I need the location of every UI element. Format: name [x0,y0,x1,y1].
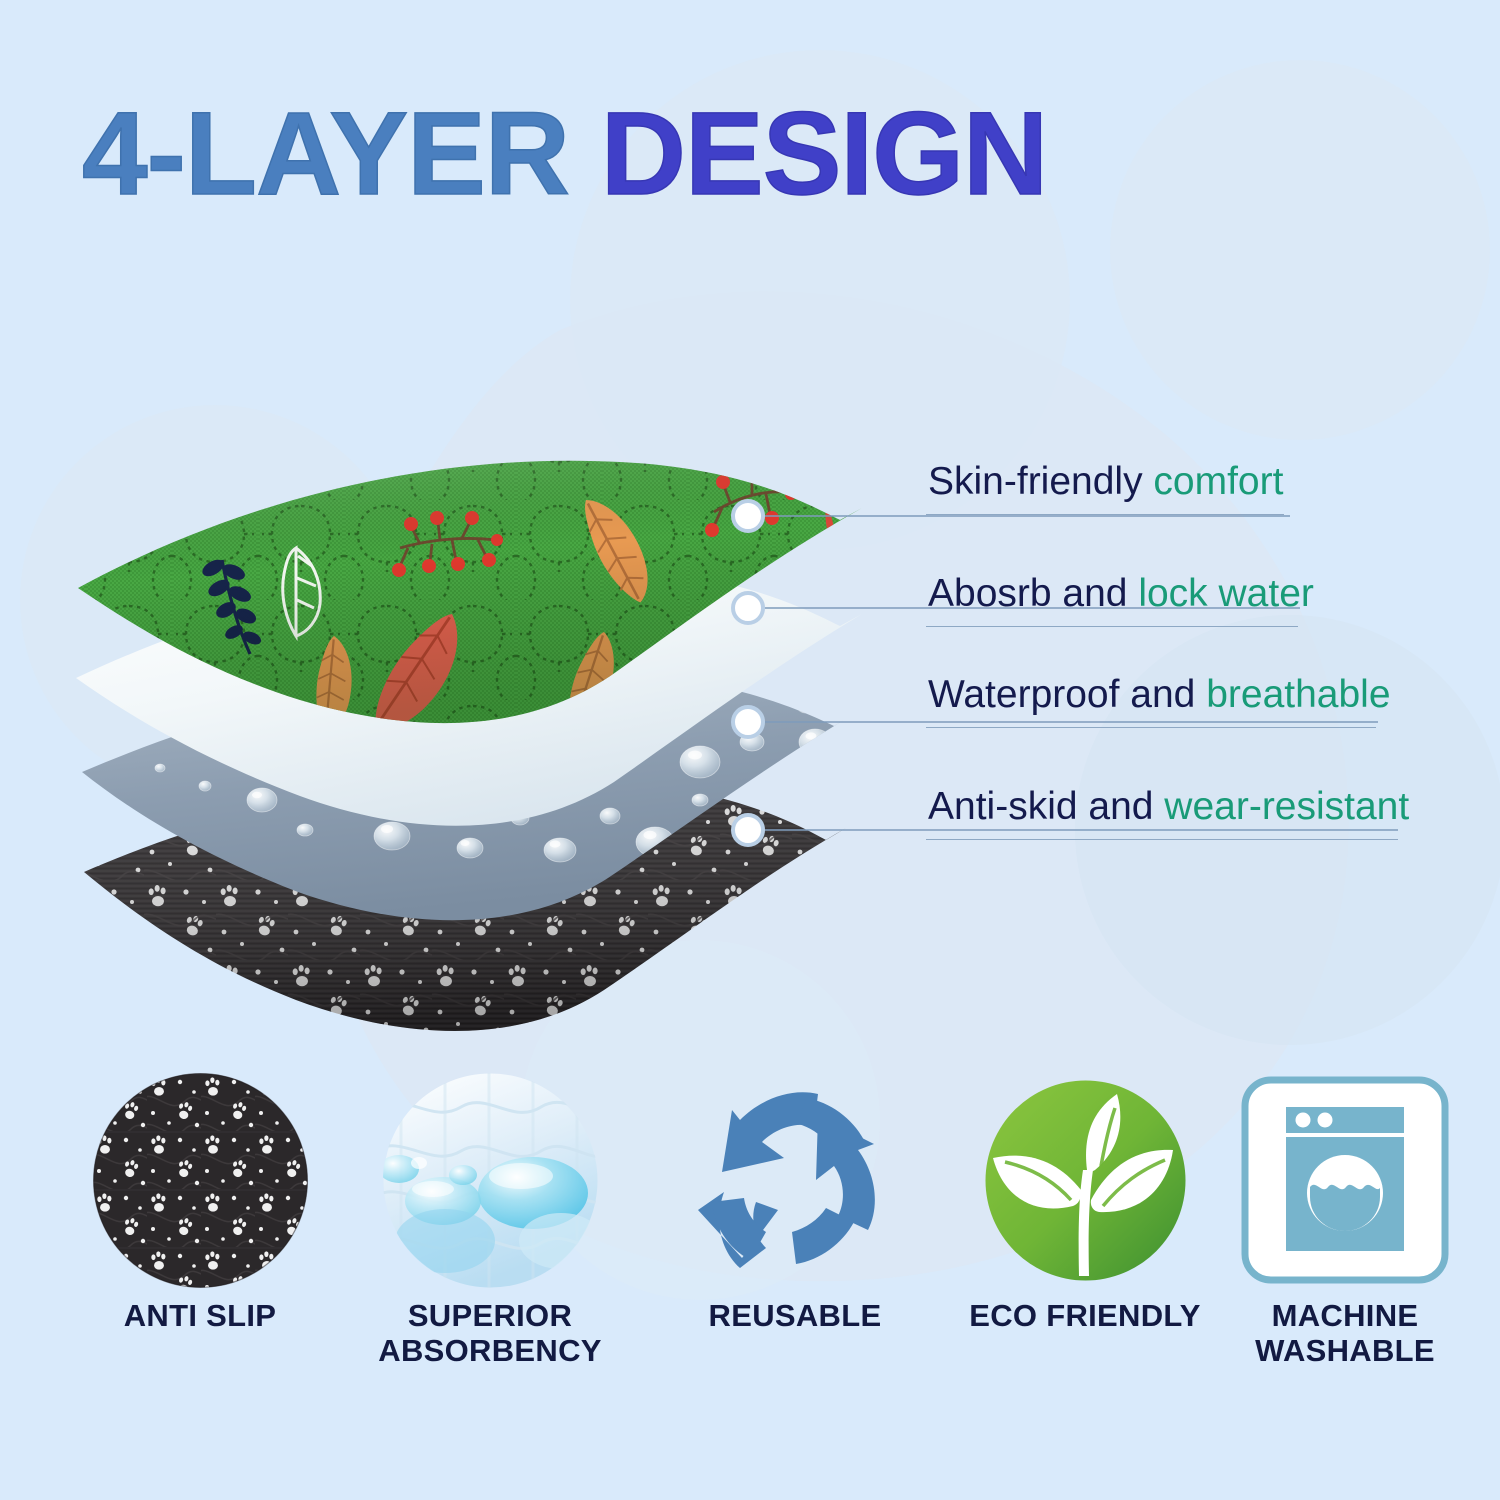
callout-rule-4 [926,839,1398,840]
feature-label-anti-slip: ANTI SLIP [50,1299,350,1334]
callout-label-absorb: Abosrb and lock water [928,572,1314,616]
label-line: REUSABLE [645,1299,945,1334]
callout-text-accent-4: wear-resistant [1164,785,1409,828]
recycle-icon [645,1075,945,1285]
feature-label-machine-washable: MACHINE WASHABLE [1195,1299,1495,1368]
feature-reusable: REUSABLE [645,1075,945,1334]
water-droplet-quilt-icon [340,1075,640,1285]
callout-rule-1 [926,514,1284,515]
callout-dot-layer-3[interactable] [731,705,765,739]
callout-text-accent-1: comfort [1153,460,1283,503]
paw-fabric-icon [50,1075,350,1285]
label-line: ANTI SLIP [50,1299,350,1334]
feature-machine-washable: MACHINE WASHABLE [1195,1075,1495,1368]
label-line: SUPERIOR [340,1299,640,1334]
label-line: ABSORBENCY [340,1334,640,1369]
feature-label-eco-friendly: ECO FRIENDLY [935,1299,1235,1334]
callout-text-dark-4: Anti-skid and [928,785,1164,828]
callout-text-accent-3: breathable [1206,673,1390,716]
callout-text-dark-2: Abosrb and [928,572,1138,615]
label-line: MACHINE [1195,1299,1495,1334]
callout-dot-layer-2[interactable] [731,591,765,625]
eco-leaf-icon [935,1075,1235,1285]
callout-dot-layer-1[interactable] [731,499,765,533]
feature-row: ANTI SLIP [0,1075,1500,1455]
washing-machine-icon [1195,1075,1495,1285]
feature-eco-friendly: ECO FRIENDLY [935,1075,1235,1334]
callout-rule-3 [926,727,1376,728]
callout-rule-2 [926,626,1298,627]
feature-label-reusable: REUSABLE [645,1299,945,1334]
callout-dot-layer-4[interactable] [731,813,765,847]
label-line: WASHABLE [1195,1334,1495,1369]
infographic-canvas: 4-LAYER DESIGN [0,0,1500,1500]
feature-anti-slip: ANTI SLIP [50,1075,350,1334]
callout-label-anti-skid: Anti-skid and wear-resistant [928,785,1409,829]
callout-label-skin-friendly: Skin-friendly comfort [928,460,1283,504]
callout-text-dark-1: Skin-friendly [928,460,1153,503]
callout-text-accent-2: lock water [1138,572,1314,615]
feature-label-superior-absorbency: SUPERIOR ABSORBENCY [340,1299,640,1368]
label-line: ECO FRIENDLY [935,1299,1235,1334]
callout-text-dark-3: Waterproof and [928,673,1206,716]
callout-label-waterproof: Waterproof and breathable [928,673,1391,717]
feature-superior-absorbency: SUPERIOR ABSORBENCY [340,1075,640,1368]
